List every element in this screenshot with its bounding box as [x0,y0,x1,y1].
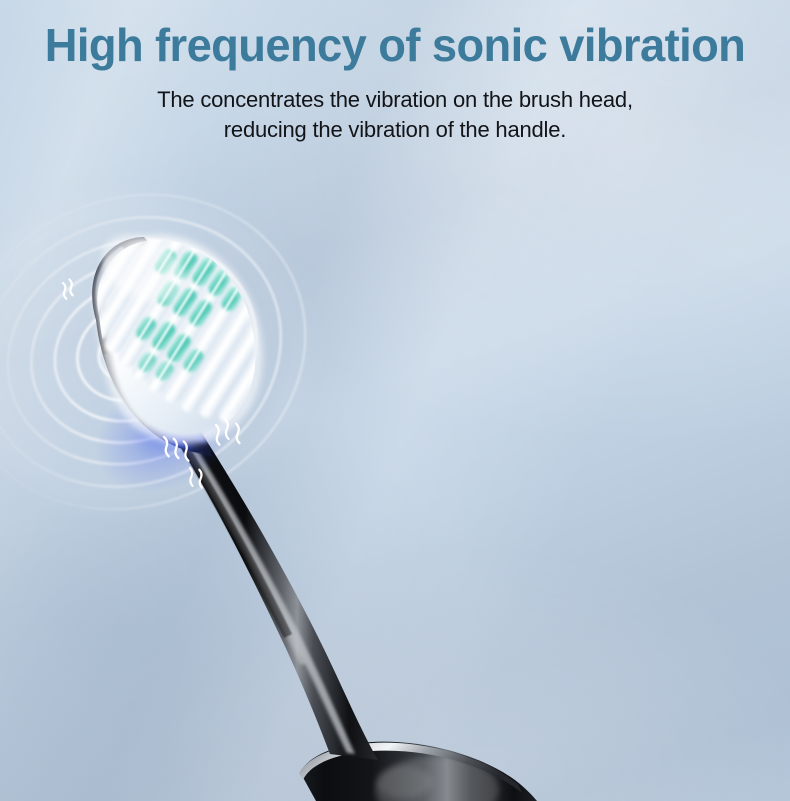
page-title: High frequency of sonic vibration [6,0,784,74]
brush-neck [176,432,378,760]
subtitle-line-2: reducing the vibration of the handle. [0,115,790,145]
subtitle: The concentrates the vibration on the br… [0,74,790,145]
feature-banner: High frequency of sonic vibration The co… [0,0,790,801]
handle-specular-2 [376,766,432,798]
text-block: High frequency of sonic vibration The co… [0,0,790,145]
subtitle-line-1: The concentrates the vibration on the br… [0,85,790,115]
